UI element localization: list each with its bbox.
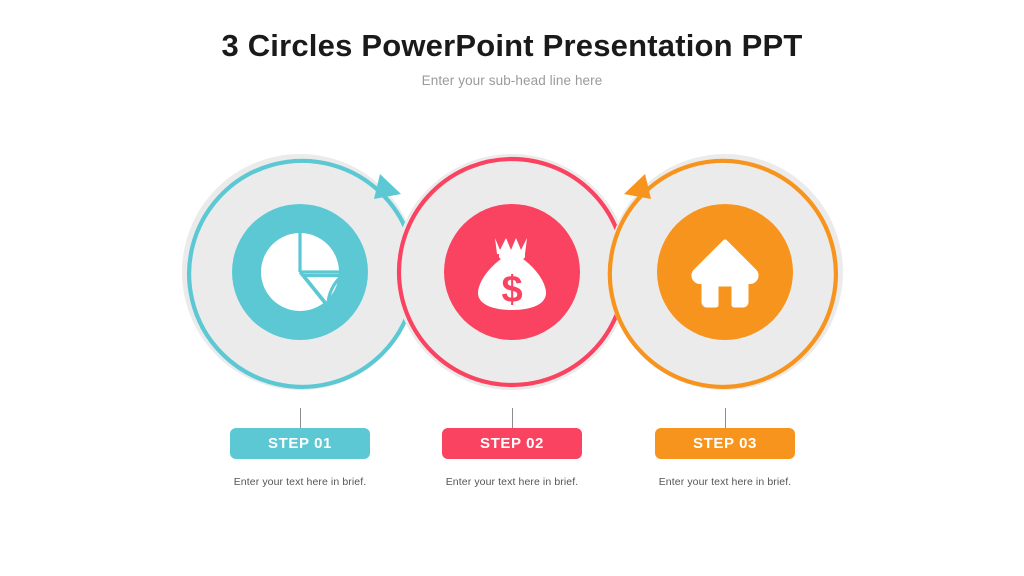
page-subtitle: Enter your sub-head line here bbox=[0, 73, 1024, 88]
arrowhead-step-3 bbox=[624, 174, 651, 199]
step-badge-3[interactable]: STEP 03 bbox=[655, 428, 795, 459]
connector-line-3 bbox=[725, 408, 726, 428]
page-title: 3 Circles PowerPoint Presentation PPT bbox=[0, 28, 1024, 64]
slide-header: 3 Circles PowerPoint Presentation PPT En… bbox=[0, 28, 1024, 88]
arrowhead-step-1 bbox=[374, 174, 401, 199]
three-circles-diagram: $ bbox=[0, 140, 1024, 420]
slide-canvas: 3 Circles PowerPoint Presentation PPT En… bbox=[0, 0, 1024, 576]
step-item-3[interactable]: STEP 03 Enter your text here in brief. bbox=[595, 408, 855, 488]
connector-line-1 bbox=[300, 408, 301, 428]
circle-group-step-2[interactable]: $ bbox=[399, 159, 625, 385]
circle-group-step-1[interactable] bbox=[189, 161, 415, 387]
connector-line-2 bbox=[512, 408, 513, 428]
step-badge-1[interactable]: STEP 01 bbox=[230, 428, 370, 459]
svg-text:$: $ bbox=[501, 269, 522, 311]
step-badge-2[interactable]: STEP 02 bbox=[442, 428, 582, 459]
steps-row: STEP 01 Enter your text here in brief. S… bbox=[0, 408, 1024, 528]
circle-group-step-3[interactable] bbox=[610, 161, 836, 387]
step-caption-3: Enter your text here in brief. bbox=[595, 476, 855, 488]
